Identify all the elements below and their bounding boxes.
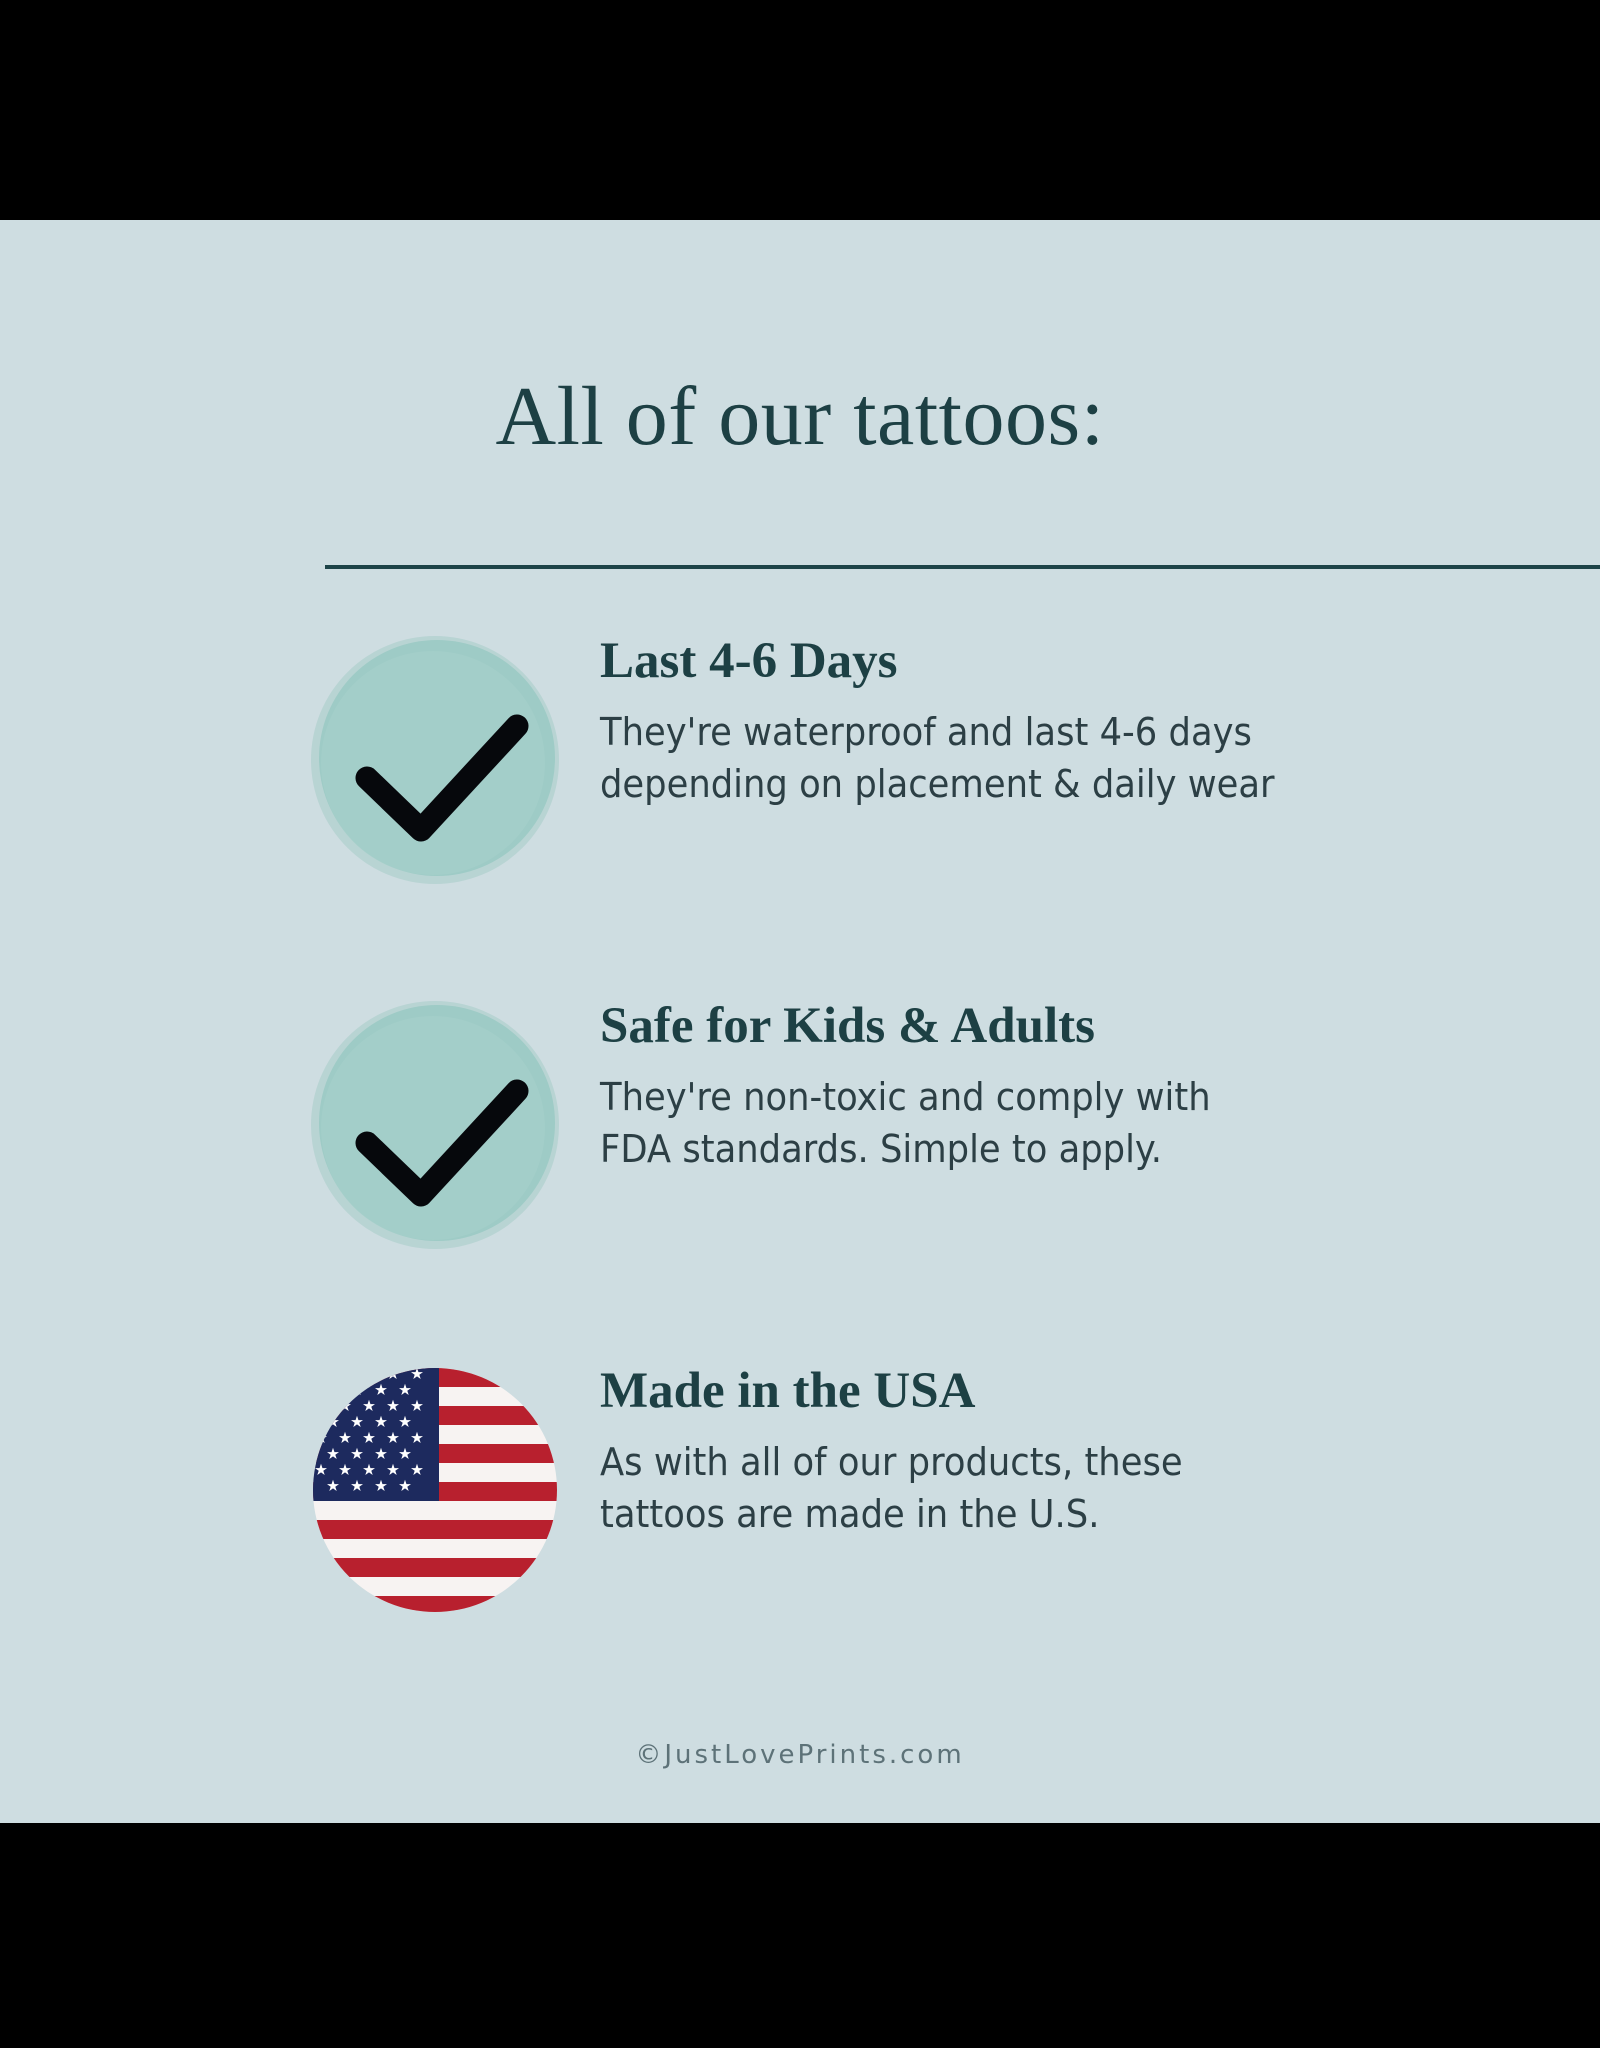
title-divider (325, 565, 1600, 569)
letterbox-top (0, 0, 1600, 220)
feature-row: Safe for Kids & Adults They're non-toxic… (305, 995, 1555, 1265)
footer-credit: ©JustLovePrints.com (0, 1740, 1600, 1770)
page-title: All of our tattoos: (0, 375, 1600, 459)
feature-description: As with all of our products, these tatto… (600, 1437, 1488, 1540)
check-circle-icon (305, 630, 565, 890)
feature-row: Last 4-6 Days They're waterproof and las… (305, 630, 1555, 900)
feature-text: Safe for Kids & Adults They're non-toxic… (600, 995, 1555, 1175)
content-panel: All of our tattoos: Last 4-6 Days They'r… (0, 220, 1600, 1823)
screenshot-canvas: All of our tattoos: Last 4-6 Days They'r… (0, 0, 1600, 2048)
letterbox-bottom (0, 1823, 1600, 2048)
feature-text: Made in the USA As with all of our produ… (600, 1360, 1555, 1540)
check-circle-icon (305, 995, 565, 1255)
feature-title: Safe for Kids & Adults (600, 1001, 1555, 1052)
usa-flag-circle-icon (305, 1360, 565, 1620)
feature-description: They're non-toxic and comply with FDA st… (600, 1072, 1488, 1175)
feature-text: Last 4-6 Days They're waterproof and las… (600, 630, 1555, 810)
feature-description: They're waterproof and last 4-6 days dep… (600, 707, 1488, 810)
feature-row: Made in the USA As with all of our produ… (305, 1360, 1555, 1630)
feature-title: Last 4-6 Days (600, 636, 1555, 687)
feature-title: Made in the USA (600, 1366, 1555, 1417)
